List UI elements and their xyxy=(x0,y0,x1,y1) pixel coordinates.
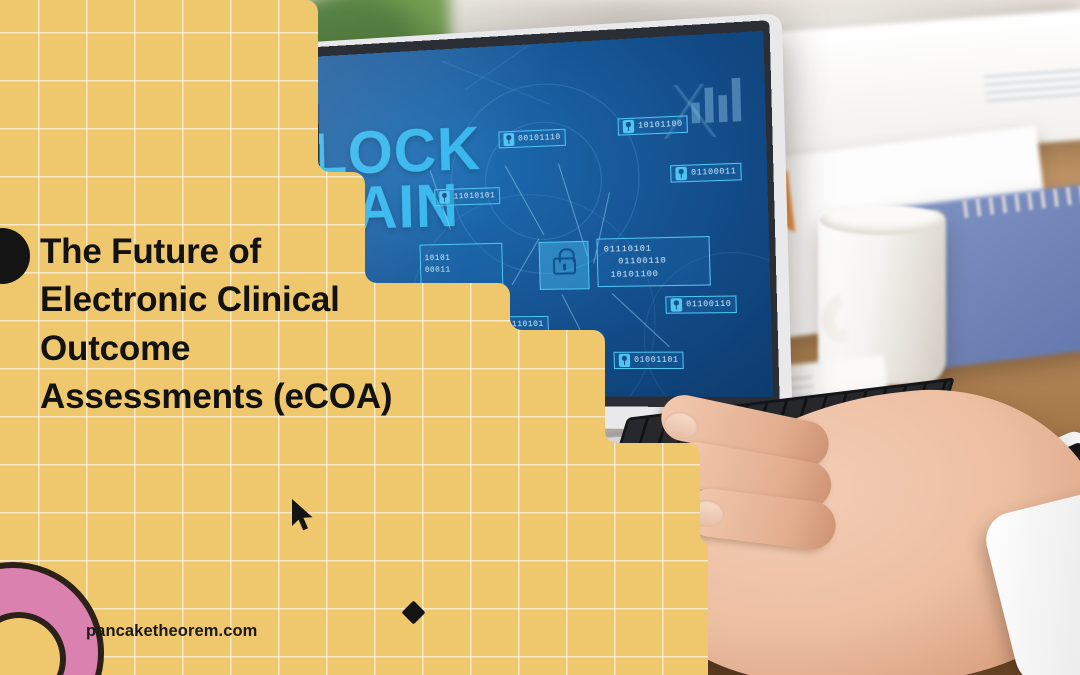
title-line: Outcome xyxy=(40,325,510,373)
title-line: The Future of xyxy=(40,228,510,276)
mug-rim xyxy=(820,205,944,235)
website-url: pancaketheorem.com xyxy=(86,622,257,641)
mouse-cursor-arrow-icon xyxy=(290,498,316,532)
page-title: The Future of Electronic Clinical Outcom… xyxy=(40,228,510,421)
title-line: Electronic Clinical xyxy=(40,276,510,324)
notebook-text-lines xyxy=(984,68,1080,106)
title-line: Assessments (eCOA) xyxy=(40,373,510,421)
banner-canvas: LOCK HAIN 00101110 10101100 11010101 xyxy=(0,0,1080,675)
